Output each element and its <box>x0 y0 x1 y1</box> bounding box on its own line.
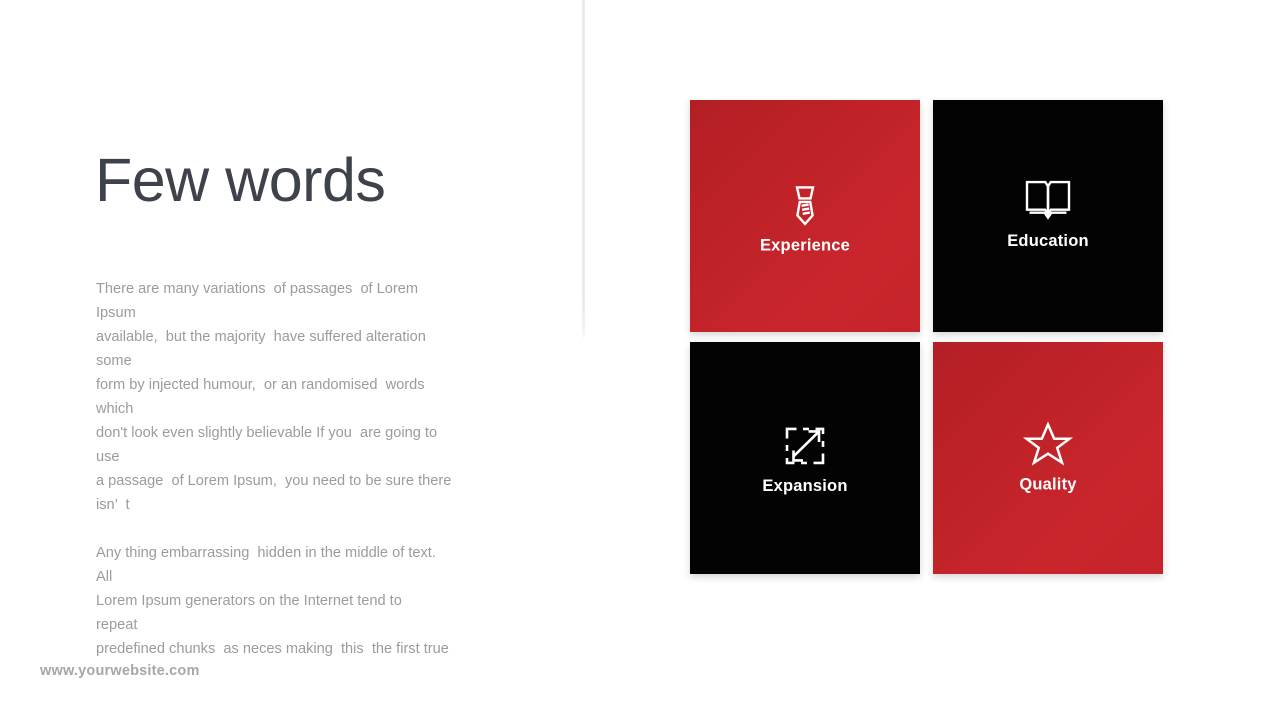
left-text-panel: Few words There are many variations of p… <box>0 0 583 720</box>
tile-content: Education <box>933 178 1163 251</box>
body-line: form by injected humour, or an randomise… <box>96 373 516 397</box>
feature-tile-grid: Experience Education <box>690 100 1163 572</box>
tile-content: Quality <box>933 422 1163 495</box>
tile-label: Education <box>933 232 1163 251</box>
star-outline-icon <box>933 422 1163 468</box>
expand-arrows-icon <box>690 423 920 469</box>
paragraph-2: Any thing embarrassing hidden in the mid… <box>96 541 516 661</box>
body-line: some <box>96 349 516 373</box>
page-title: Few words <box>95 148 385 212</box>
tile-quality[interactable]: Quality <box>933 342 1163 574</box>
tile-label: Experience <box>690 236 920 255</box>
tile-label: Expansion <box>690 477 920 496</box>
tile-education[interactable]: Education <box>933 100 1163 332</box>
body-line: Ipsum <box>96 301 516 325</box>
body-line: a passage of Lorem Ipsum, you need to be… <box>96 469 516 493</box>
body-line: isn’ t <box>96 493 516 517</box>
body-line: use <box>96 445 516 469</box>
tile-content: Experience <box>690 182 920 255</box>
body-line: available, but the majority have suffere… <box>96 325 516 349</box>
body-copy: There are many variations of passages of… <box>96 277 516 661</box>
body-line: There are many variations of passages of… <box>96 277 516 301</box>
body-line: repeat <box>96 613 516 637</box>
open-book-icon <box>933 178 1163 224</box>
paragraph-1: There are many variations of passages of… <box>96 277 516 517</box>
body-line: predefined chunks as neces making this t… <box>96 637 516 661</box>
tile-label: Quality <box>933 476 1163 495</box>
vertical-divider <box>582 0 585 341</box>
tile-experience[interactable]: Experience <box>690 100 920 332</box>
body-line: Lorem Ipsum generators on the Internet t… <box>96 589 516 613</box>
footer-website-url: www.yourwebsite.com <box>40 663 200 679</box>
necktie-icon <box>690 182 920 228</box>
slide-canvas: Few words There are many variations of p… <box>0 0 1280 720</box>
body-line: which <box>96 397 516 421</box>
body-line: Any thing embarrassing hidden in the mid… <box>96 541 516 565</box>
body-line: don't look even slightly believable If y… <box>96 421 516 445</box>
body-line: All <box>96 565 516 589</box>
tile-expansion[interactable]: Expansion <box>690 342 920 574</box>
tile-content: Expansion <box>690 423 920 496</box>
